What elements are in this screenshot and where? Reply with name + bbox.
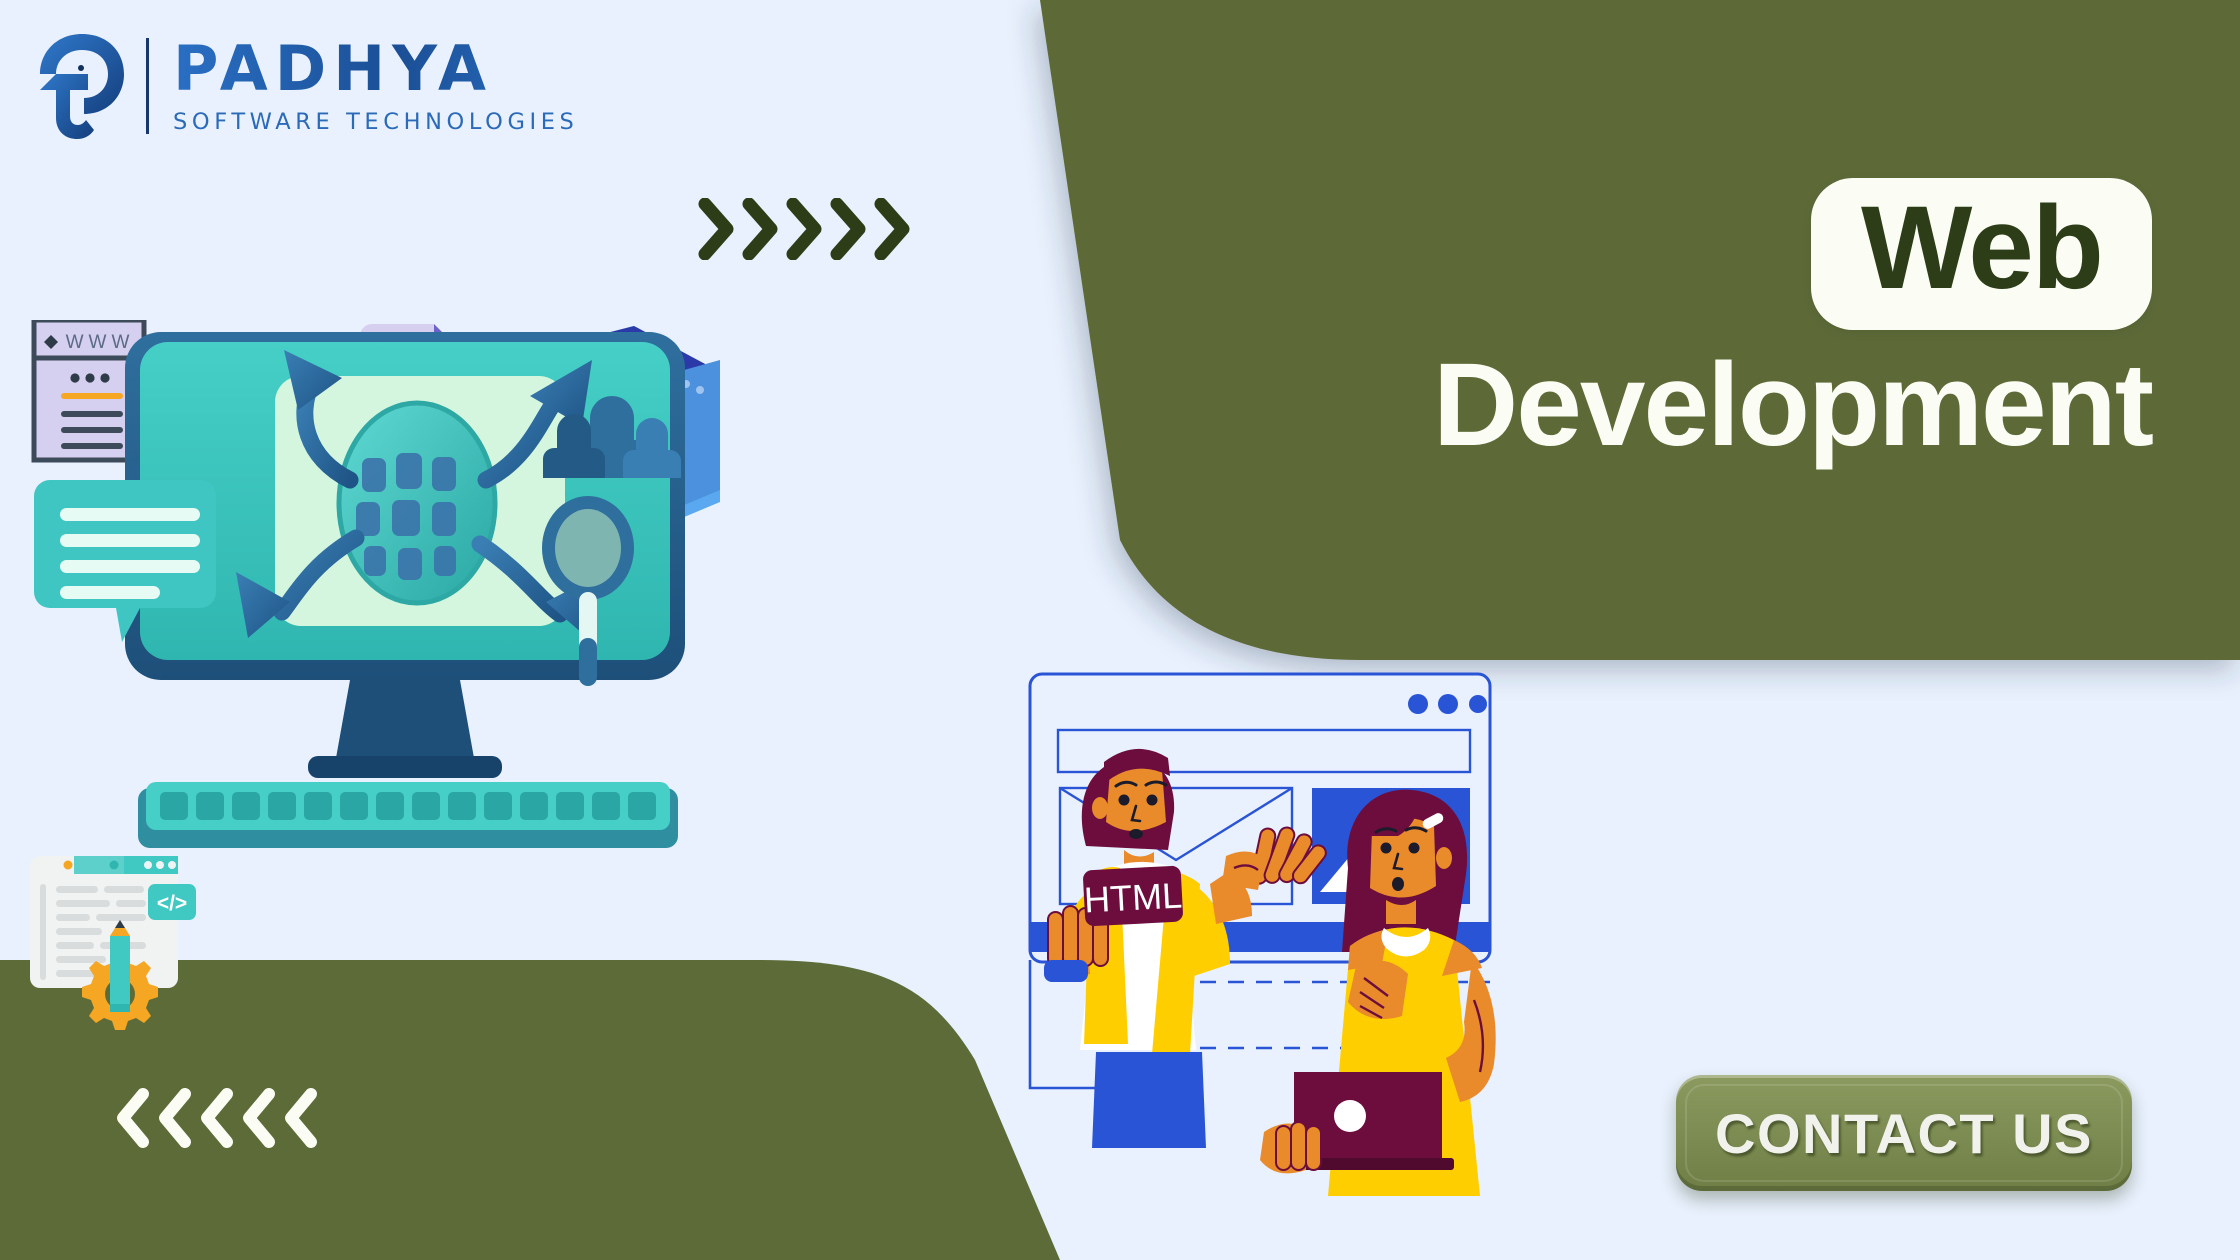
chevron-right-icon [697,198,737,260]
logo-wordmark: PADHYA SOFTWARE TECHNOLOGIES [173,38,578,134]
chevron-right-icon [873,198,913,260]
logo-name: PADHYA [173,38,578,100]
svg-text:HTML: HTML [1083,874,1183,920]
desktop-monitor-icon [34,332,685,848]
chevron-right-icon [829,198,869,260]
brand-logo[interactable]: PADHYA SOFTWARE TECHNOLOGIES [36,30,578,142]
page-title-subtitle: Development [1433,344,2152,468]
svg-text:</>: </> [157,892,187,915]
keyboard-icon [138,782,678,848]
headline-block: Web Development [1433,178,2152,468]
logo-tagline: SOFTWARE TECHNOLOGIES [173,111,578,134]
code-editor-card-icon: </> [12,840,222,1050]
chevron-right-group [697,198,913,260]
chevron-left-icon [240,1088,278,1148]
contact-us-button[interactable]: CONTACT US [1676,1075,2132,1191]
pencil-icon [110,920,130,1012]
headline-highlight-pill: Web [1811,178,2152,330]
chevron-left-group [114,1088,320,1148]
headline-highlight-row: Web [1433,178,2152,330]
logo-divider [146,38,149,134]
padhya-p-monogram-icon [36,30,128,142]
chevron-left-icon [156,1088,194,1148]
page-title-highlight: Web [1861,182,2102,314]
chevron-left-icon [282,1088,320,1148]
chevron-right-icon [785,198,825,260]
contact-us-button-label: CONTACT US [1715,1101,2093,1166]
chevron-left-icon [198,1088,236,1148]
team-web-design-illustration: HTML [1020,660,1600,1260]
html-card: HTML [1083,865,1184,926]
svg-text:WWW: WWW [66,332,135,353]
wireframe-globe-icon [339,403,495,603]
web-development-banner: PADHYA SOFTWARE TECHNOLOGIES Web Develop… [0,0,2240,1260]
chevron-left-icon [114,1088,152,1148]
chevron-right-icon [741,198,781,260]
